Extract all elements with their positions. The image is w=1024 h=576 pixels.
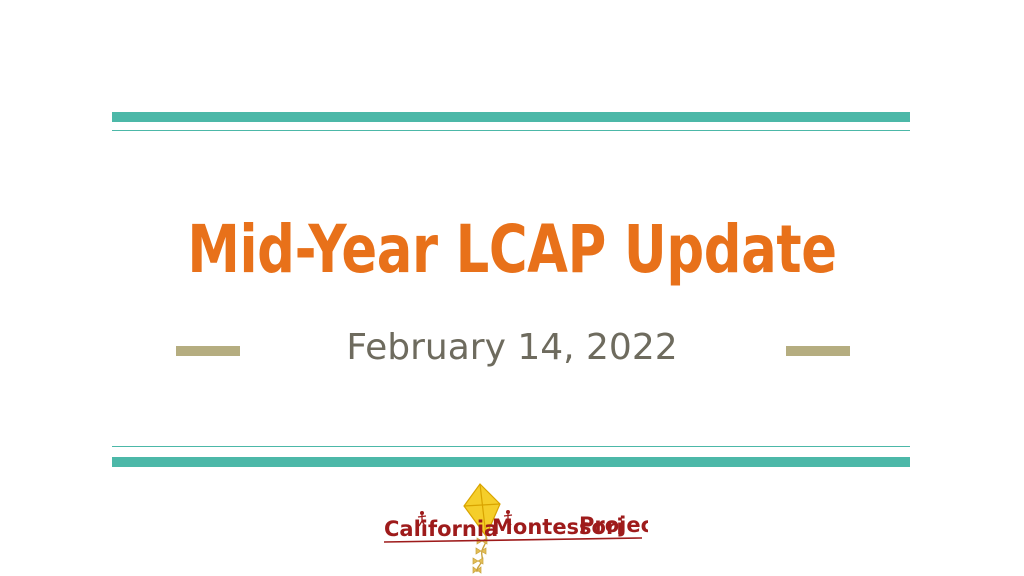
accent-dash-right — [786, 346, 850, 356]
logo-area: California Montessori Project — [0, 478, 1024, 574]
bottom-thick-rule — [112, 457, 910, 467]
bottom-thin-rule — [112, 446, 910, 447]
logo-svg: California Montessori Project — [376, 478, 648, 574]
title-slide: Mid-Year LCAP Update February 14, 2022 — [0, 0, 1024, 576]
accent-dash-left — [176, 346, 240, 356]
slide-title: Mid-Year LCAP Update — [102, 214, 921, 286]
logo-word-california: California — [384, 517, 498, 541]
logo-word-project: Project — [579, 513, 648, 537]
slide-subtitle-date: February 14, 2022 — [0, 325, 1024, 371]
top-thin-rule — [112, 130, 910, 131]
top-thick-rule — [112, 112, 910, 122]
